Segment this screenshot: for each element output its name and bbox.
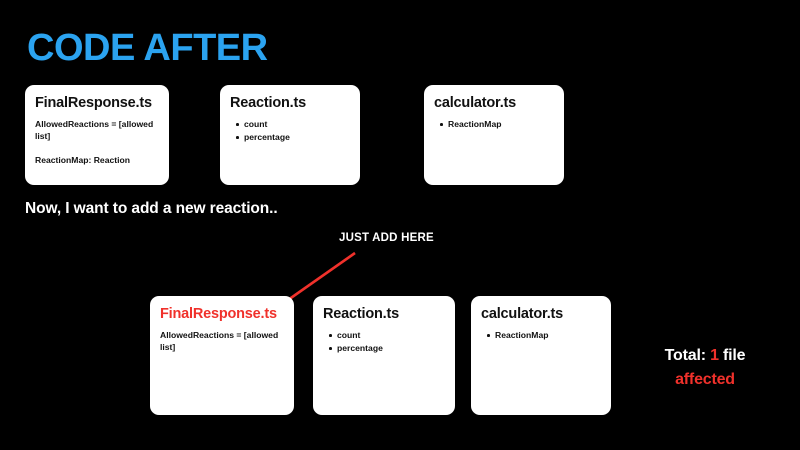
file-card-finalresponse-top[interactable]: FinalResponse.ts AllowedReactions = [all… — [25, 85, 169, 185]
annotation-label: JUST ADD HERE — [339, 231, 434, 245]
file-card-paragraph: AllowedReactions = [allowed list] — [35, 118, 159, 142]
file-card-reaction-top[interactable]: Reaction.ts count percentage — [220, 85, 360, 185]
total-callout: Total: 1 file affected — [620, 344, 790, 392]
list-item: ReactionMap — [495, 329, 601, 342]
total-prefix: Total: — [665, 347, 710, 364]
page-title: CODE AFTER — [27, 28, 268, 68]
file-card-title: calculator.ts — [481, 305, 601, 323]
file-card-finalresponse-bottom[interactable]: FinalResponse.ts AllowedReactions = [all… — [150, 296, 294, 415]
file-card-title: Reaction.ts — [230, 94, 350, 112]
file-card-calculator-top[interactable]: calculator.ts ReactionMap — [424, 85, 564, 185]
list-item: count — [244, 118, 350, 131]
file-card-title: Reaction.ts — [323, 305, 445, 323]
file-card-paragraph: AllowedReactions = [allowed list] — [160, 329, 284, 353]
list-item: percentage — [337, 342, 445, 355]
file-card-title: FinalResponse.ts — [35, 94, 159, 112]
total-count: 1 — [710, 347, 719, 364]
file-card-title: FinalResponse.ts — [160, 305, 284, 323]
file-card-calculator-bottom[interactable]: calculator.ts ReactionMap — [471, 296, 611, 415]
list-item: percentage — [244, 131, 350, 144]
total-suffix: file — [719, 347, 746, 364]
file-card-bullet-list: count percentage — [230, 118, 350, 144]
total-line-2: affected — [620, 368, 790, 392]
file-card-bullet-list: ReactionMap — [434, 118, 554, 131]
list-item: ReactionMap — [448, 118, 554, 131]
file-card-bullet-list: count percentage — [323, 329, 445, 355]
slide-canvas: CODE AFTER FinalResponse.ts AllowedReact… — [0, 0, 800, 450]
file-card-bullet-list: ReactionMap — [481, 329, 601, 342]
file-card-title: calculator.ts — [434, 94, 554, 112]
file-card-reaction-bottom[interactable]: Reaction.ts count percentage — [313, 296, 455, 415]
list-item: count — [337, 329, 445, 342]
total-line-1: Total: 1 file — [620, 344, 790, 368]
file-card-paragraph: ReactionMap: Reaction — [35, 154, 159, 166]
caption-text: Now, I want to add a new reaction.. — [25, 199, 278, 219]
